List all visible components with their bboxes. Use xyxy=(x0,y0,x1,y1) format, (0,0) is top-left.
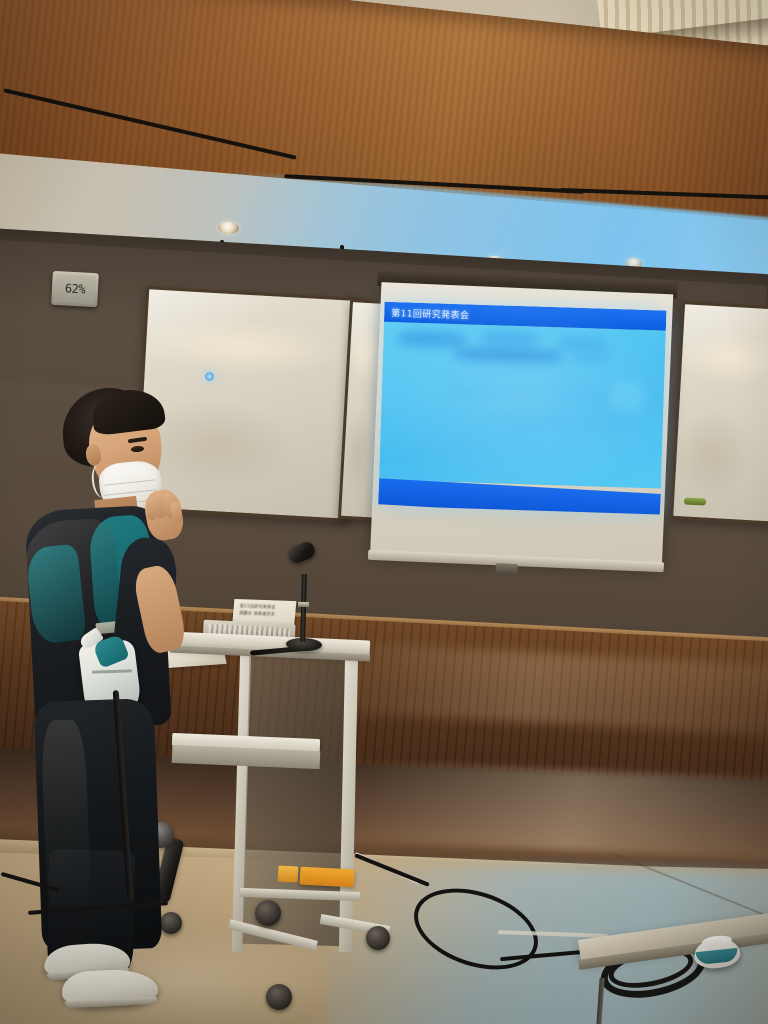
meter-value-text: 62% xyxy=(65,281,86,296)
shoe-sole xyxy=(65,997,157,1009)
placard-line-2: 演題名 発表者氏名 xyxy=(239,610,292,619)
finger xyxy=(169,501,183,525)
slide-text-blur xyxy=(481,413,571,426)
wall-digital-meter: 62% xyxy=(51,271,99,307)
power-strip xyxy=(300,867,355,888)
presenter xyxy=(0,370,210,1024)
slide-graphic-blur xyxy=(609,381,646,412)
presentation-room-photo: 62% 第11回研究発表会 xyxy=(0,0,768,1024)
whiteboard-right xyxy=(670,301,768,525)
slide-body xyxy=(379,322,666,489)
pants-highlight xyxy=(41,719,92,920)
slide-text-blur xyxy=(442,386,542,400)
whiteboard-glare xyxy=(673,304,768,521)
slide-text-blur xyxy=(453,346,563,364)
slide-text-blur xyxy=(421,409,471,421)
presenter-shoe-front xyxy=(61,968,159,1009)
desk-mic-adjuster[interactable] xyxy=(298,602,309,607)
screen-pull-handle[interactable] xyxy=(495,563,517,575)
slide-title-text: 第11回研究発表会 xyxy=(391,306,469,321)
power-strip-secondary xyxy=(278,865,299,882)
slide-text-blur xyxy=(438,368,558,382)
slide-text-blur xyxy=(555,337,607,352)
projection-screen-unit: 第11回研究発表会 xyxy=(365,270,677,582)
slide-text-blur xyxy=(410,433,450,443)
meter-lcd-screen: 62% xyxy=(54,274,95,304)
slide-text-blur xyxy=(479,331,539,347)
slide-text-blur xyxy=(552,387,616,401)
cart-caster-wheel xyxy=(366,926,390,950)
slide-text-blur xyxy=(397,330,467,348)
projected-slide: 第11回研究発表会 xyxy=(378,302,666,515)
slide-text-blur xyxy=(571,352,611,365)
mask-pleat xyxy=(103,479,155,485)
cart-caster-wheel xyxy=(266,984,292,1010)
slide-text-blur xyxy=(466,436,524,447)
cart-caster-wheel xyxy=(255,900,281,926)
marker-tray-object xyxy=(684,497,706,505)
slide-text-blur xyxy=(581,418,631,431)
